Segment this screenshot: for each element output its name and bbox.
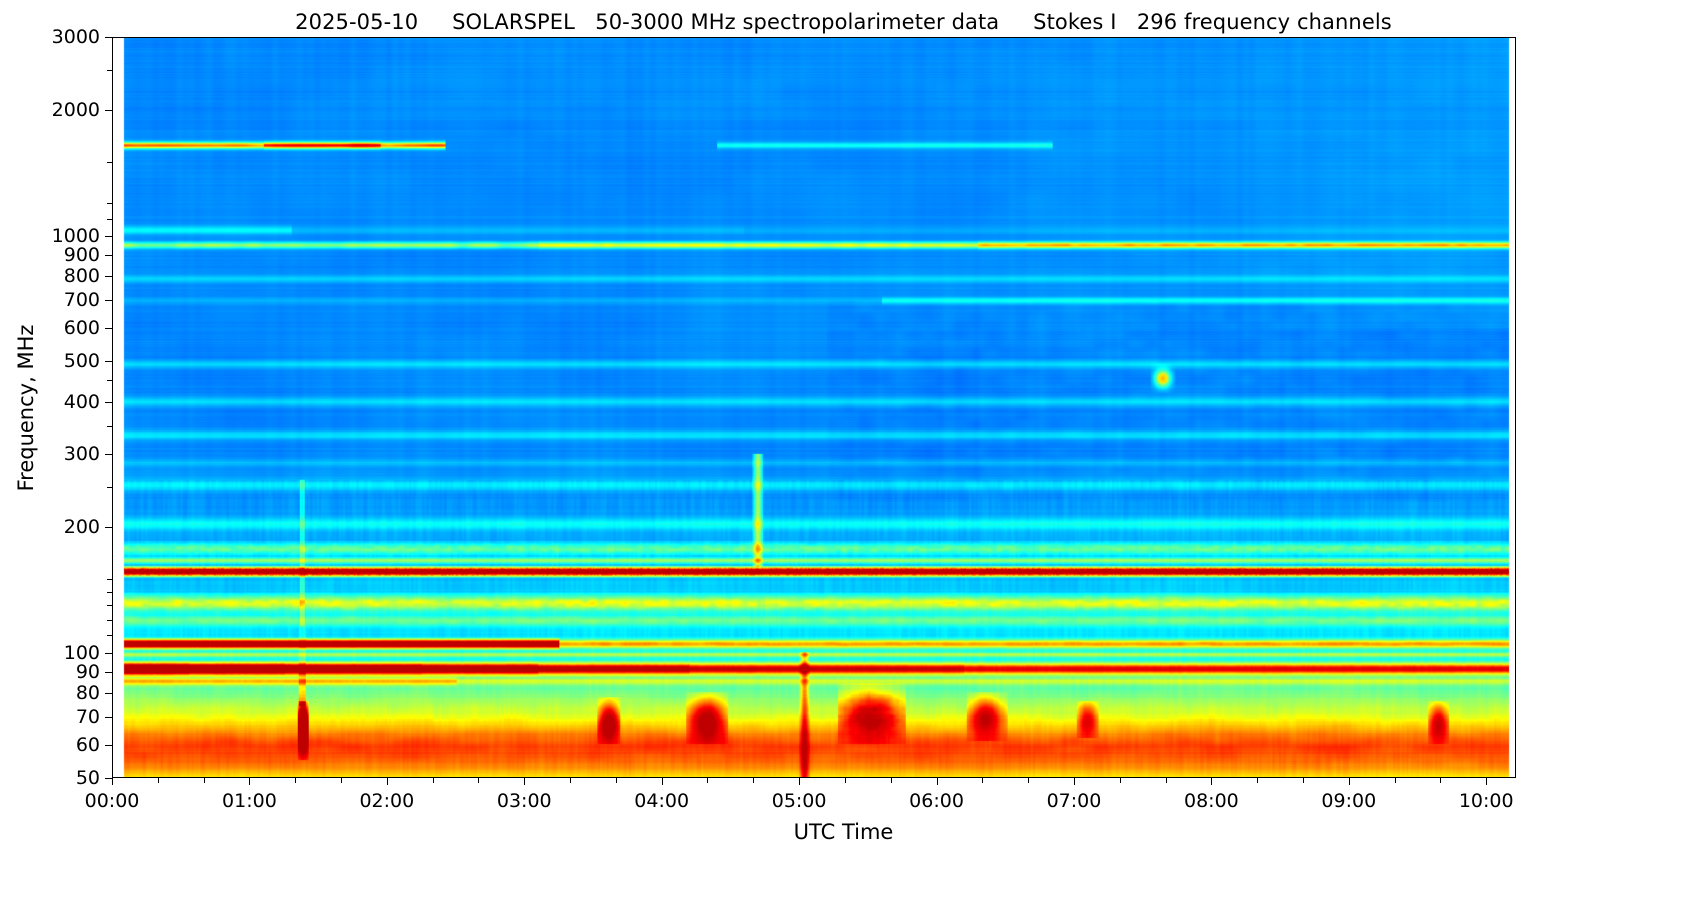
x-axis-tick-major (799, 778, 800, 785)
y-axis-tick-major (105, 328, 112, 329)
x-axis-label: UTC Time (0, 820, 1687, 844)
x-axis-tick-label: 08:00 (1184, 790, 1239, 812)
y-axis-tick-label: 70 (0, 706, 100, 728)
y-axis-tick-minor (107, 162, 112, 163)
y-axis-tick-minor (107, 380, 112, 381)
y-axis-tick-label: 800 (0, 265, 100, 287)
x-axis-tick-major (937, 778, 938, 785)
x-axis-tick-minor (1303, 778, 1304, 783)
x-axis-tick-major (1486, 778, 1487, 785)
x-axis-tick-minor (616, 778, 617, 783)
y-axis-tick-label: 2000 (0, 99, 100, 121)
x-axis-tick-label: 01:00 (222, 790, 277, 812)
y-axis-tick-major (105, 717, 112, 718)
x-axis-tick-major (1074, 778, 1075, 785)
y-axis-tick-label: 60 (0, 734, 100, 756)
x-axis-tick-minor (753, 778, 754, 783)
x-axis-tick-label: 10:00 (1459, 790, 1514, 812)
x-axis-tick-minor (433, 778, 434, 783)
x-axis-tick-minor (707, 778, 708, 783)
y-axis-tick-major (105, 255, 112, 256)
x-axis-tick-major (387, 778, 388, 785)
y-axis-tick-major (105, 402, 112, 403)
x-axis-tick-minor (158, 778, 159, 783)
x-axis-tick-label: 06:00 (909, 790, 964, 812)
x-axis-tick-minor (341, 778, 342, 783)
x-axis-tick-minor (1257, 778, 1258, 783)
spectrogram-image-area (113, 38, 1515, 777)
y-axis-tick-major (105, 276, 112, 277)
y-axis-tick-minor (107, 70, 112, 71)
y-axis-tick-minor (107, 203, 112, 204)
y-axis-tick-major (105, 672, 112, 673)
spectrogram-figure: 2025-05-10 SOLARSPEL 50-3000 MHz spectro… (0, 0, 1687, 906)
y-axis-tick-major (105, 454, 112, 455)
x-axis-tick-minor (982, 778, 983, 783)
y-axis-tick-label: 200 (0, 516, 100, 538)
y-axis-tick-major (105, 745, 112, 746)
y-axis-tick-minor (107, 635, 112, 636)
x-axis-tick-label: 04:00 (634, 790, 689, 812)
x-axis-tick-minor (1395, 778, 1396, 783)
y-axis-tick-major (105, 37, 112, 38)
y-axis-tick-major (105, 300, 112, 301)
y-axis-tick-minor (107, 219, 112, 220)
y-axis-tick-major (105, 236, 112, 237)
y-axis-tick-major (105, 361, 112, 362)
y-axis-tick-minor (107, 487, 112, 488)
y-axis-tick-major (105, 778, 112, 779)
dynamic-spectrum-canvas (113, 38, 1515, 777)
y-axis-tick-label: 900 (0, 244, 100, 266)
x-axis-tick-label: 07:00 (1047, 790, 1102, 812)
x-axis-tick-major (524, 778, 525, 785)
x-axis-tick-minor (478, 778, 479, 783)
y-axis-tick-major (105, 653, 112, 654)
x-axis-tick-minor (570, 778, 571, 783)
x-axis-tick-minor (1440, 778, 1441, 783)
y-axis-tick-label: 3000 (0, 26, 100, 48)
x-axis-tick-major (249, 778, 250, 785)
y-axis-tick-major (105, 693, 112, 694)
x-axis-tick-minor (295, 778, 296, 783)
x-axis-tick-major (1349, 778, 1350, 785)
x-axis-tick-major (112, 778, 113, 785)
y-axis-tick-label: 700 (0, 289, 100, 311)
y-axis-tick-label: 80 (0, 682, 100, 704)
x-axis-tick-minor (845, 778, 846, 783)
x-axis-tick-major (662, 778, 663, 785)
y-axis-tick-minor (107, 605, 112, 606)
x-axis-tick-label: 00:00 (85, 790, 140, 812)
x-axis-tick-minor (1120, 778, 1121, 783)
y-axis-tick-minor (107, 620, 112, 621)
figure-title: 2025-05-10 SOLARSPEL 50-3000 MHz spectro… (0, 10, 1687, 34)
x-axis-tick-major (1211, 778, 1212, 785)
x-axis-tick-minor (1166, 778, 1167, 783)
y-axis-tick-minor (107, 579, 112, 580)
x-axis-tick-minor (891, 778, 892, 783)
x-axis-tick-label: 03:00 (497, 790, 552, 812)
y-axis-tick-label: 50 (0, 767, 100, 789)
y-axis-tick-minor (107, 592, 112, 593)
y-axis-tick-major (105, 110, 112, 111)
y-axis-tick-label: 90 (0, 661, 100, 683)
x-axis-tick-label: 02:00 (359, 790, 414, 812)
x-axis-tick-minor (1028, 778, 1029, 783)
y-axis-tick-major (105, 527, 112, 528)
x-axis-tick-label: 09:00 (1321, 790, 1376, 812)
spectrogram-axes (112, 37, 1516, 778)
y-axis-label: Frequency, MHz (14, 324, 38, 491)
x-axis-tick-label: 05:00 (772, 790, 827, 812)
x-axis-tick-minor (204, 778, 205, 783)
y-axis-tick-minor (107, 426, 112, 427)
